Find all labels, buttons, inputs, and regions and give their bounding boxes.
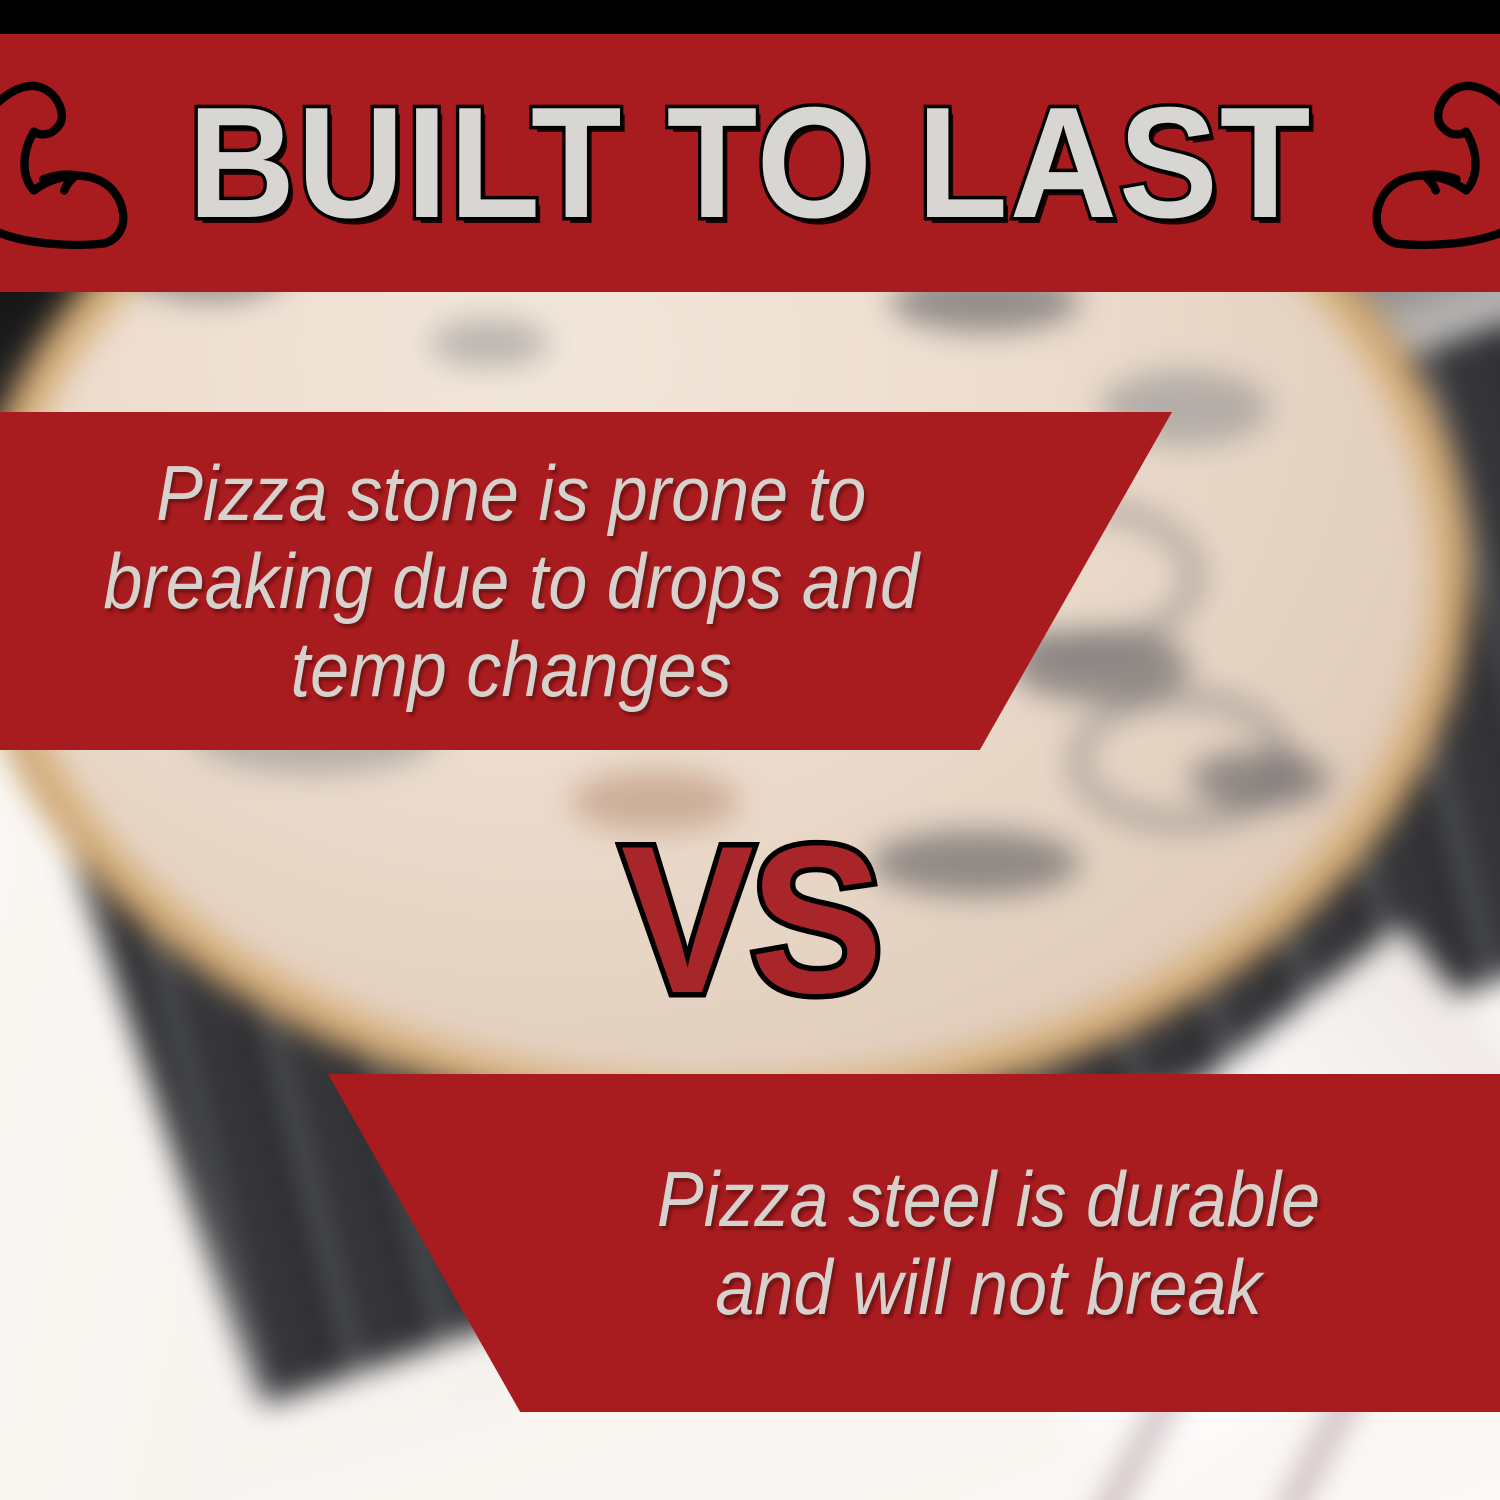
versus-label: VS bbox=[38, 815, 1463, 1025]
page-title: BUILT TO LAST bbox=[188, 84, 1312, 242]
promo-image: BUILT TO LAST Pizza stone is prone to br… bbox=[0, 0, 1500, 1500]
flexed-bicep-icon bbox=[0, 73, 146, 253]
comparison-banner-stone: Pizza stone is prone to breaking due to … bbox=[0, 412, 1172, 750]
top-black-strip bbox=[0, 0, 1500, 34]
flexed-bicep-icon bbox=[1354, 73, 1500, 253]
header-row: BUILT TO LAST bbox=[0, 34, 1500, 292]
comparison-banner-stone-text: Pizza stone is prone to breaking due to … bbox=[103, 449, 919, 713]
comparison-banner-steel: Pizza steel is durable and will not brea… bbox=[328, 1074, 1500, 1412]
comparison-banner-steel-text: Pizza steel is durable and will not brea… bbox=[657, 1155, 1320, 1331]
